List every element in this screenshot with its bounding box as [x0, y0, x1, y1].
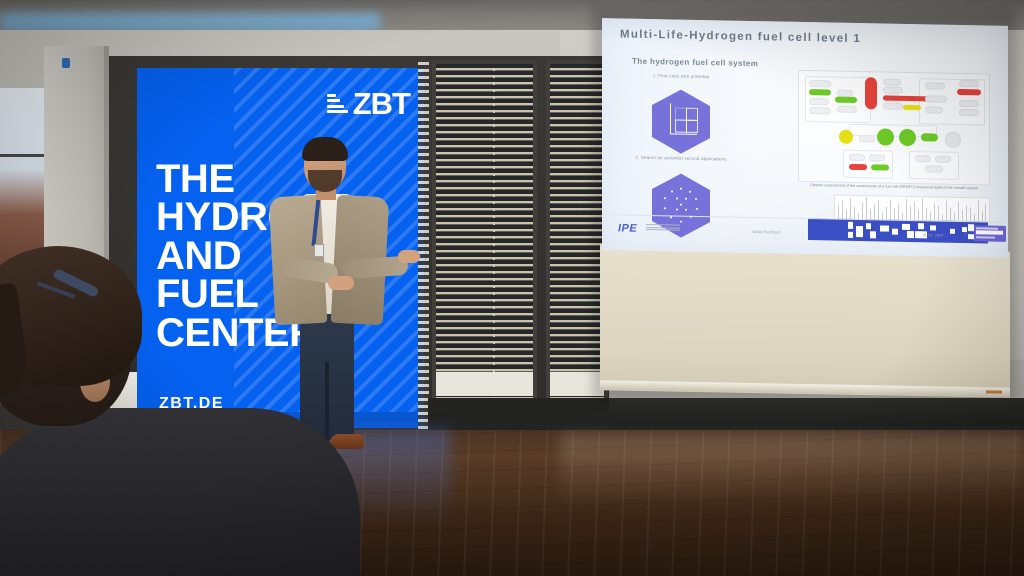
audience-shoulders — [0, 408, 360, 576]
blind-cord — [493, 68, 495, 398]
screen-blank-area — [600, 244, 1010, 398]
slide-footer-date: 18. 01. 2024 — [922, 233, 943, 237]
left-window — [0, 88, 47, 268]
status-matrix — [808, 218, 988, 243]
audience-member-foreground — [0, 258, 360, 576]
slide-footer-author: Stefan Eschbach — [752, 230, 781, 235]
presentation-room-photo: ZBT THE HYDROGEN AND FUEL CENTER ZBT.DE … — [0, 0, 1024, 576]
floor-screen-reflection — [560, 434, 1024, 504]
ipe-logo-subtext — [646, 224, 680, 233]
speaker-hand-right — [398, 250, 420, 263]
window-sill — [436, 372, 533, 396]
projection-screen: Multi-Life-Hydrogen fuel cell level 1 Th… — [596, 12, 1014, 394]
zbt-logo: ZBT — [327, 88, 410, 119]
zbt-wordmark: ZBT — [353, 88, 410, 119]
partner-logo-badge — [974, 225, 1006, 242]
slide-surface: Multi-Life-Hydrogen fuel cell level 1 Th… — [602, 18, 1008, 258]
speaker-hair — [302, 137, 348, 161]
wall-skirting — [609, 398, 1024, 432]
ipe-logo: IPE — [618, 222, 637, 234]
fuelcell-assessment-diagram — [798, 70, 990, 186]
zbt-bars-icon — [327, 94, 348, 114]
speaker-badge — [314, 244, 324, 257]
speaker-beard — [308, 170, 342, 192]
slide-page-number: 7 — [964, 234, 966, 238]
axes-icon — [666, 103, 698, 138]
nodes-icon — [663, 187, 699, 224]
wall-sensor-icon — [62, 58, 70, 68]
